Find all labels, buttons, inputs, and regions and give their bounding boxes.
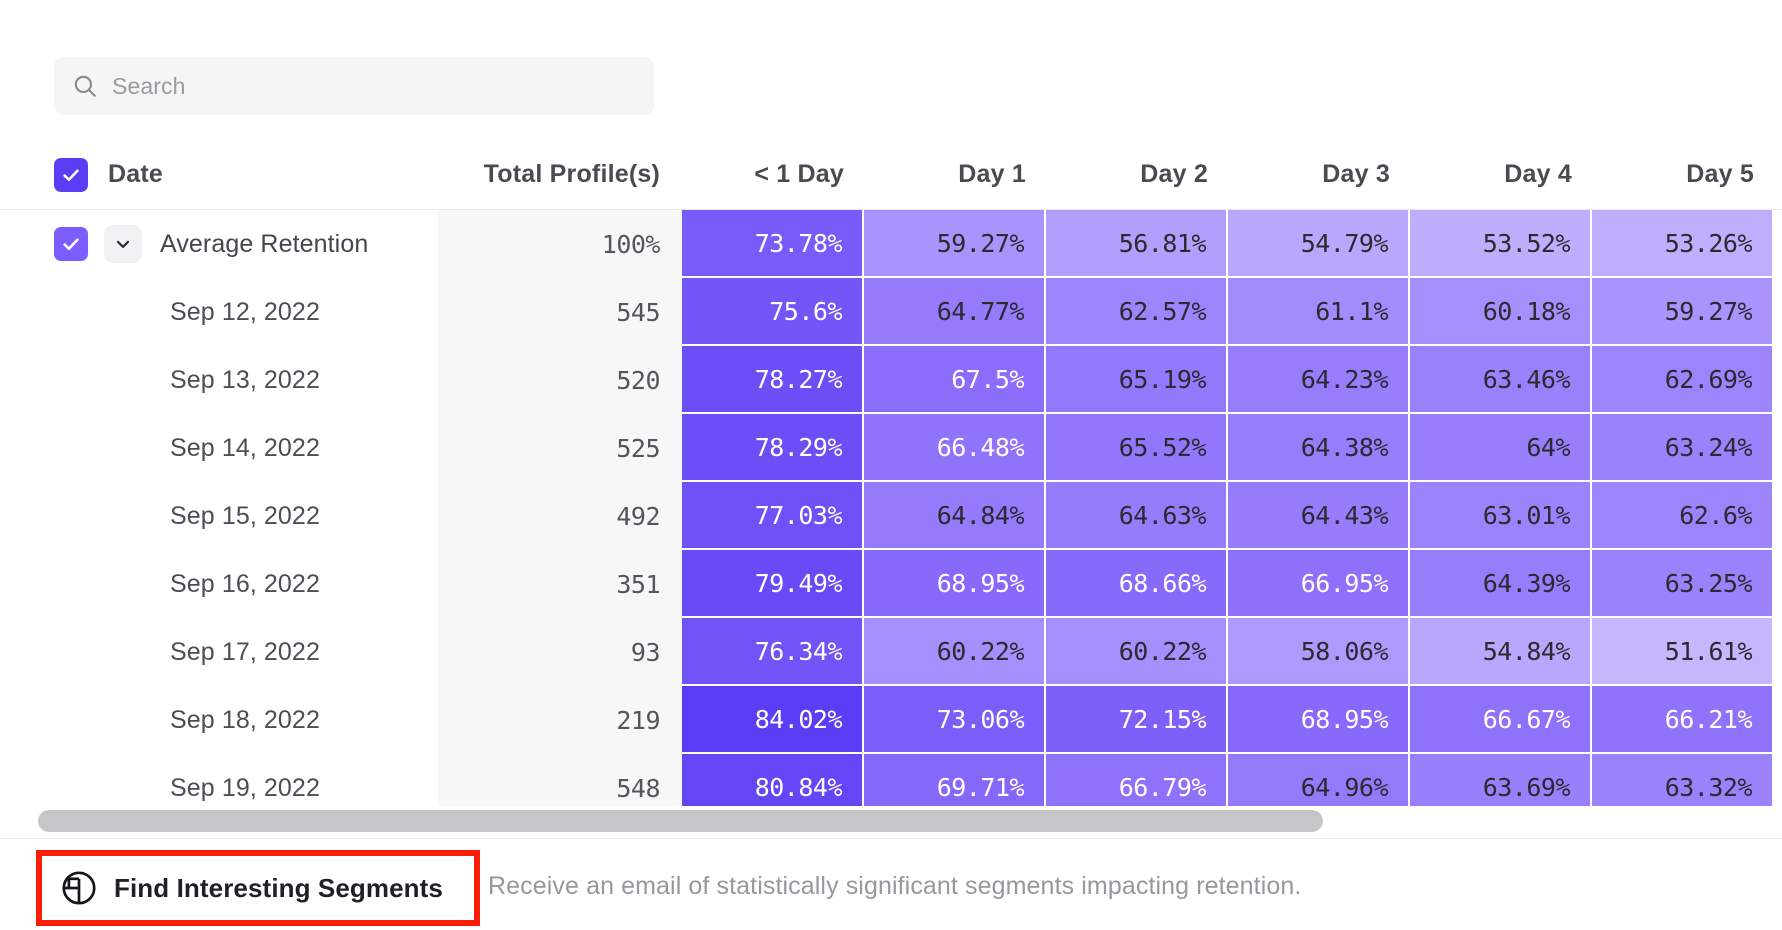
- row-label: Sep 14, 2022: [170, 434, 320, 463]
- horizontal-scrollbar[interactable]: [0, 806, 1782, 836]
- header-label-d2: Day 2: [1140, 160, 1208, 189]
- row-cell-total: 93: [438, 618, 682, 686]
- row-label: Sep 19, 2022: [170, 774, 320, 803]
- header-label-d3: Day 3: [1322, 160, 1390, 189]
- retention-cell[interactable]: 67.5%: [864, 346, 1046, 414]
- row-cell-date: Sep 15, 2022: [0, 482, 438, 550]
- retention-value: 63.01%: [1483, 501, 1570, 530]
- retention-cell[interactable]: 61.1%: [1228, 278, 1410, 346]
- retention-value: 66.48%: [937, 433, 1024, 462]
- retention-cell[interactable]: 79.49%: [682, 550, 864, 618]
- row-cell-date: Sep 13, 2022: [0, 346, 438, 414]
- retention-cell[interactable]: 66.67%: [1410, 686, 1592, 754]
- retention-table: DateTotal Profile(s)< 1 DayDay 1Day 2Day…: [0, 140, 1782, 820]
- retention-grid: DateTotal Profile(s)< 1 DayDay 1Day 2Day…: [0, 140, 1782, 820]
- retention-cell[interactable]: 66.48%: [864, 414, 1046, 482]
- row-cell-total: 520: [438, 346, 682, 414]
- retention-value: 63.46%: [1483, 365, 1570, 394]
- retention-cell[interactable]: 53.52%: [1410, 210, 1592, 278]
- row-label: Sep 18, 2022: [170, 706, 320, 735]
- retention-value: 62.57%: [1119, 297, 1206, 326]
- retention-cell[interactable]: 77.03%: [682, 482, 864, 550]
- retention-value: 66.79%: [1119, 773, 1206, 802]
- retention-value: 53.52%: [1483, 229, 1570, 258]
- row-cell-date: Sep 12, 2022: [0, 278, 438, 346]
- retention-value: 67.5%: [951, 365, 1024, 394]
- retention-cell[interactable]: 64.38%: [1228, 414, 1410, 482]
- header-label-d4: Day 4: [1504, 160, 1572, 189]
- retention-value: 76.34%: [755, 637, 842, 666]
- row-cell-total: 545: [438, 278, 682, 346]
- table-row[interactable]: Sep 13, 202252078.27%67.5%65.19%64.23%63…: [0, 346, 1782, 414]
- retention-value: 73.78%: [755, 229, 842, 258]
- row-cell-date: Sep 16, 2022: [0, 550, 438, 618]
- expand-row-button[interactable]: [104, 225, 142, 263]
- retention-cell[interactable]: 63.25%: [1592, 550, 1774, 618]
- retention-cell[interactable]: 59.27%: [1592, 278, 1774, 346]
- retention-cell[interactable]: 76.34%: [682, 618, 864, 686]
- retention-value: 58.06%: [1301, 637, 1388, 666]
- retention-value: 64.84%: [937, 501, 1024, 530]
- row-label: Sep 17, 2022: [170, 638, 320, 667]
- retention-value: 68.95%: [937, 569, 1024, 598]
- retention-value: 59.27%: [1665, 297, 1752, 326]
- total-profiles-value: 525: [616, 434, 660, 463]
- retention-cell[interactable]: 73.06%: [864, 686, 1046, 754]
- retention-cell[interactable]: 63.46%: [1410, 346, 1592, 414]
- table-row[interactable]: Sep 16, 202235179.49%68.95%68.66%66.95%6…: [0, 550, 1782, 618]
- find-segments-description: Receive an email of statistically signif…: [488, 872, 1301, 901]
- retention-cell[interactable]: 68.95%: [1228, 686, 1410, 754]
- retention-cell[interactable]: 64.23%: [1228, 346, 1410, 414]
- retention-cell[interactable]: 60.22%: [1046, 618, 1228, 686]
- retention-value: 68.95%: [1301, 705, 1388, 734]
- retention-cell[interactable]: 65.19%: [1046, 346, 1228, 414]
- find-segments-label: Find Interesting Segments: [114, 873, 443, 904]
- row-checkbox[interactable]: [54, 227, 88, 261]
- retention-cell[interactable]: 75.6%: [682, 278, 864, 346]
- table-row[interactable]: Sep 12, 202254575.6%64.77%62.57%61.1%60.…: [0, 278, 1782, 346]
- retention-value: 60.22%: [937, 637, 1024, 666]
- retention-value: 64.23%: [1301, 365, 1388, 394]
- row-label: Sep 16, 2022: [170, 570, 320, 599]
- retention-cell[interactable]: 54.84%: [1410, 618, 1592, 686]
- row-cell-total: 351: [438, 550, 682, 618]
- select-all-checkbox[interactable]: [54, 158, 88, 192]
- retention-value: 54.79%: [1301, 229, 1388, 258]
- total-profiles-value: 492: [616, 502, 660, 531]
- retention-cell[interactable]: 59.27%: [864, 210, 1046, 278]
- retention-value: 68.66%: [1119, 569, 1206, 598]
- table-header-row: DateTotal Profile(s)< 1 DayDay 1Day 2Day…: [0, 140, 1782, 210]
- retention-value: 63.32%: [1665, 773, 1752, 802]
- retention-value: 79.49%: [755, 569, 842, 598]
- retention-value: 66.67%: [1483, 705, 1570, 734]
- header-label-date: Date: [108, 160, 163, 189]
- retention-cell[interactable]: 78.27%: [682, 346, 864, 414]
- retention-cell[interactable]: 65.52%: [1046, 414, 1228, 482]
- row-label: Sep 13, 2022: [170, 366, 320, 395]
- retention-cell[interactable]: 73.78%: [682, 210, 864, 278]
- retention-value: 53.26%: [1665, 229, 1752, 258]
- retention-cell[interactable]: 62.69%: [1592, 346, 1774, 414]
- total-profiles-value: 219: [616, 706, 660, 735]
- retention-value: 64.77%: [937, 297, 1024, 326]
- header-cell-d3[interactable]: Day 3: [1228, 140, 1410, 209]
- row-cell-total: 100%: [438, 210, 682, 278]
- retention-value: 73.06%: [937, 705, 1024, 734]
- header-cell-date: Date: [0, 140, 438, 209]
- retention-value: 65.19%: [1119, 365, 1206, 394]
- retention-cell[interactable]: 60.18%: [1410, 278, 1592, 346]
- retention-value: 80.84%: [755, 773, 842, 802]
- retention-value: 78.29%: [755, 433, 842, 462]
- retention-cell[interactable]: 66.95%: [1228, 550, 1410, 618]
- retention-value: 63.69%: [1483, 773, 1570, 802]
- retention-cell[interactable]: 64.63%: [1046, 482, 1228, 550]
- retention-value: 54.84%: [1483, 637, 1570, 666]
- retention-value: 64.43%: [1301, 501, 1388, 530]
- table-row[interactable]: Sep 14, 202252578.29%66.48%65.52%64.38%6…: [0, 414, 1782, 482]
- segment-pie-icon: [60, 869, 98, 907]
- retention-cell[interactable]: 68.66%: [1046, 550, 1228, 618]
- retention-cell[interactable]: 64.39%: [1410, 550, 1592, 618]
- retention-value: 62.6%: [1679, 501, 1752, 530]
- retention-cell[interactable]: 53.26%: [1592, 210, 1774, 278]
- row-label: Sep 12, 2022: [170, 298, 320, 327]
- header-cell-d4[interactable]: Day 4: [1410, 140, 1592, 209]
- retention-cell[interactable]: 63.24%: [1592, 414, 1774, 482]
- retention-value: 72.15%: [1119, 705, 1206, 734]
- header-cell-d2[interactable]: Day 2: [1046, 140, 1228, 209]
- retention-cell[interactable]: 63.01%: [1410, 482, 1592, 550]
- table-row[interactable]: Sep 17, 20229376.34%60.22%60.22%58.06%54…: [0, 618, 1782, 686]
- retention-value: 65.52%: [1119, 433, 1206, 462]
- search-box[interactable]: [54, 57, 654, 115]
- retention-cell[interactable]: 58.06%: [1228, 618, 1410, 686]
- row-cell-date: Sep 17, 2022: [0, 618, 438, 686]
- retention-value: 59.27%: [937, 229, 1024, 258]
- retention-value: 51.61%: [1665, 637, 1752, 666]
- retention-value: 77.03%: [755, 501, 842, 530]
- row-cell-date: Sep 14, 2022: [0, 414, 438, 482]
- retention-value: 64.96%: [1301, 773, 1388, 802]
- retention-value: 56.81%: [1119, 229, 1206, 258]
- header-label-d1: Day 1: [958, 160, 1026, 189]
- total-profiles-value: 520: [616, 366, 660, 395]
- scrollbar-thumb[interactable]: [38, 810, 1323, 832]
- retention-value: 64.39%: [1483, 569, 1570, 598]
- row-cell-date: Sep 18, 2022: [0, 686, 438, 754]
- search-input[interactable]: [112, 73, 636, 100]
- total-profiles-value: 100%: [602, 230, 660, 259]
- header-cell-d5[interactable]: Day 5: [1592, 140, 1774, 209]
- retention-cell[interactable]: 68.95%: [864, 550, 1046, 618]
- check-icon: [60, 233, 82, 255]
- header-cell-total[interactable]: Total Profile(s): [438, 140, 682, 209]
- total-profiles-value: 545: [616, 298, 660, 327]
- row-label: Average Retention: [160, 230, 368, 259]
- retention-cell[interactable]: 72.15%: [1046, 686, 1228, 754]
- retention-cell[interactable]: 56.81%: [1046, 210, 1228, 278]
- header-cell-d0[interactable]: < 1 Day: [682, 140, 864, 209]
- row-cell-total: 219: [438, 686, 682, 754]
- header-label-d5: Day 5: [1686, 160, 1754, 189]
- retention-value: 64.38%: [1301, 433, 1388, 462]
- retention-value: 61.1%: [1315, 297, 1388, 326]
- retention-cell[interactable]: 64.77%: [864, 278, 1046, 346]
- retention-value: 64.63%: [1119, 501, 1206, 530]
- retention-value: 60.18%: [1483, 297, 1570, 326]
- total-profiles-value: 93: [631, 638, 660, 667]
- search-icon: [72, 73, 98, 99]
- retention-cell[interactable]: 64.84%: [864, 482, 1046, 550]
- table-row[interactable]: Sep 18, 202221984.02%73.06%72.15%68.95%6…: [0, 686, 1782, 754]
- retention-value: 66.21%: [1665, 705, 1752, 734]
- retention-value: 84.02%: [755, 705, 842, 734]
- retention-value: 64%: [1526, 433, 1570, 462]
- header-label-d0: < 1 Day: [754, 160, 844, 189]
- row-cell-total: 525: [438, 414, 682, 482]
- total-profiles-value: 351: [616, 570, 660, 599]
- retention-cell[interactable]: 54.79%: [1228, 210, 1410, 278]
- retention-value: 69.71%: [937, 773, 1024, 802]
- table-row[interactable]: Sep 15, 202249277.03%64.84%64.63%64.43%6…: [0, 482, 1782, 550]
- retention-value: 78.27%: [755, 365, 842, 394]
- retention-cell[interactable]: 60.22%: [864, 618, 1046, 686]
- row-label: Sep 15, 2022: [170, 502, 320, 531]
- header-cell-d1[interactable]: Day 1: [864, 140, 1046, 209]
- table-row[interactable]: Average Retention100%73.78%59.27%56.81%5…: [0, 210, 1782, 278]
- retention-cell[interactable]: 64%: [1410, 414, 1592, 482]
- retention-table-screen: DateTotal Profile(s)< 1 DayDay 1Day 2Day…: [0, 0, 1782, 930]
- retention-cell[interactable]: 84.02%: [682, 686, 864, 754]
- retention-cell[interactable]: 62.57%: [1046, 278, 1228, 346]
- retention-cell[interactable]: 64.43%: [1228, 482, 1410, 550]
- retention-value: 60.22%: [1119, 637, 1206, 666]
- retention-value: 63.24%: [1665, 433, 1752, 462]
- retention-value: 62.69%: [1665, 365, 1752, 394]
- retention-value: 66.95%: [1301, 569, 1388, 598]
- check-icon: [60, 164, 82, 186]
- chevron-down-icon: [113, 234, 133, 254]
- row-cell-date: Average Retention: [0, 210, 438, 278]
- header-label-total: Total Profile(s): [484, 160, 660, 189]
- retention-value: 63.25%: [1665, 569, 1752, 598]
- retention-cell[interactable]: 66.21%: [1592, 686, 1774, 754]
- retention-cell[interactable]: 51.61%: [1592, 618, 1774, 686]
- retention-cell[interactable]: 62.6%: [1592, 482, 1774, 550]
- retention-cell[interactable]: 78.29%: [682, 414, 864, 482]
- retention-value: 75.6%: [769, 297, 842, 326]
- row-cell-total: 492: [438, 482, 682, 550]
- total-profiles-value: 548: [616, 774, 660, 803]
- find-interesting-segments-button[interactable]: Find Interesting Segments: [60, 860, 443, 916]
